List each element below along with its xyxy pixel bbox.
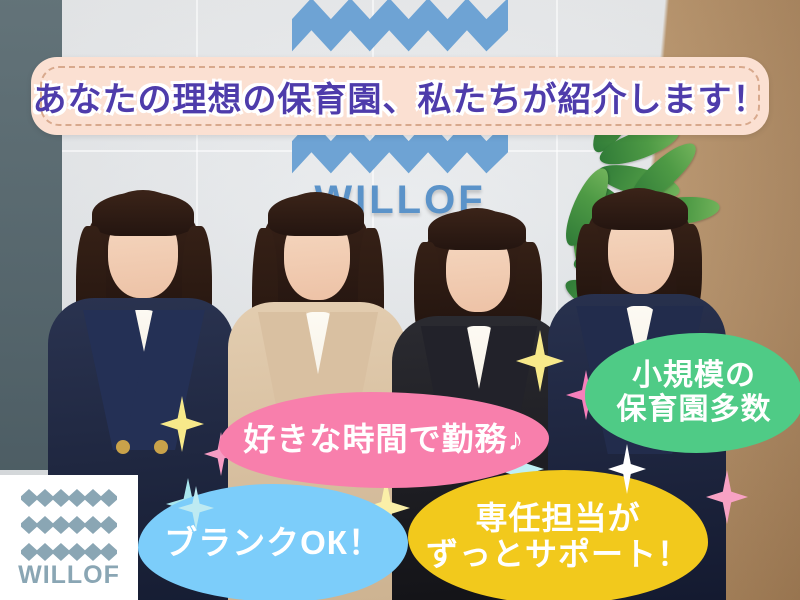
zigzag-icon — [21, 543, 117, 561]
poster-canvas: WILLOF — [0, 0, 800, 600]
headline-banner: あなたの理想の保育園、私たちが紹介します！ — [31, 57, 769, 135]
bubble-line: 専任担当が — [475, 501, 640, 537]
logo-brand-text: WILLOF — [0, 561, 138, 590]
bubble-line: ずっとサポート！ — [426, 537, 690, 573]
bubble-line: 小規模の — [632, 359, 756, 393]
zigzag-icon — [21, 489, 117, 507]
bubble-line: ブランクОК！ — [164, 525, 382, 562]
bubble-dedicated-support[interactable]: 専任担当が ずっとサポート！ — [408, 470, 708, 600]
willof-logo[interactable]: WILLOF — [0, 475, 138, 600]
zigzag-icon — [292, 0, 508, 60]
bubble-line: 保育園多数 — [617, 393, 772, 427]
headline-text: あなたの理想の保育園、私たちが紹介します！ — [31, 57, 769, 135]
zigzag-icon — [21, 516, 117, 534]
bubble-flexible-hours[interactable]: 好きな時間で勤務♪ — [219, 392, 549, 488]
bubble-line: 好きな時間で勤務♪ — [243, 422, 524, 458]
bubble-blank-ok[interactable]: ブランクОК！ — [138, 484, 408, 600]
bubble-small-nursery[interactable]: 小規模の 保育園多数 — [585, 333, 800, 453]
